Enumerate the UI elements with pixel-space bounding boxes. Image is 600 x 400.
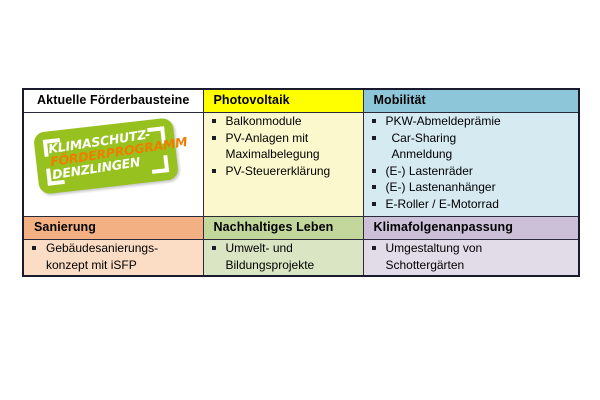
table-header-row-1: Aktuelle Förderbausteine Photovoltaik Mo… — [23, 89, 579, 113]
category-title-nachhaltiges-leben: Nachhaltiges Leben — [204, 217, 363, 238]
list-item-label: Gebäudesanierungs- konzept mit iSFP — [46, 240, 203, 273]
bullet-square-icon — [212, 246, 216, 250]
cell-sanierung-header: Sanierung — [23, 217, 203, 240]
list-item: Balkonmodule — [204, 113, 363, 130]
bullet-square-icon — [372, 169, 376, 173]
category-title-photovoltaik: Photovoltaik — [204, 90, 363, 111]
list-item-label: Umwelt- und Bildungsprojekte — [226, 240, 363, 273]
page-title: Aktuelle Förderbausteine — [24, 90, 203, 111]
cell-photovoltaik-body: Balkonmodule PV-Anlagen mit Maximalbeleg… — [203, 113, 363, 217]
list-sanierung: Gebäudesanierungs- konzept mit iSFP — [24, 240, 203, 273]
bullet-square-icon — [372, 119, 376, 123]
list-item-label: (E-) Lastenanhänger — [386, 179, 579, 196]
list-photovoltaik: Balkonmodule PV-Anlagen mit Maximalbeleg… — [204, 113, 363, 179]
list-item: Gebäudesanierungs- konzept mit iSFP — [24, 240, 203, 273]
cell-nachhaltiges-leben-body: Umwelt- und Bildungsprojekte — [203, 240, 363, 276]
table-body-row-1: KLIMASCHUTZ- FÖRDERPROGRAMM DENZLINGEN B… — [23, 113, 579, 217]
bullet-square-icon — [212, 119, 216, 123]
list-item: Car-Sharing Anmeldung — [364, 130, 579, 163]
category-title-sanierung: Sanierung — [24, 217, 203, 238]
list-nachhaltiges-leben: Umwelt- und Bildungsprojekte — [204, 240, 363, 273]
cell-klimafolgenanpassung-header: Klimafolgenanpassung — [363, 217, 579, 240]
bullet-square-icon — [372, 202, 376, 206]
list-item: PV-Steuererklärung — [204, 163, 363, 180]
foerderbausteine-table-container: Aktuelle Förderbausteine Photovoltaik Mo… — [22, 88, 578, 277]
list-item: PKW-Abmeldeprämie — [364, 113, 579, 130]
bullet-square-icon — [372, 185, 376, 189]
cell-logo: KLIMASCHUTZ- FÖRDERPROGRAMM DENZLINGEN — [23, 113, 203, 217]
list-item: Umwelt- und Bildungsprojekte — [204, 240, 363, 273]
cell-nachhaltiges-leben-header: Nachhaltiges Leben — [203, 217, 363, 240]
list-item-label: PV-Anlagen mit Maximalbelegung — [226, 130, 363, 163]
cell-mobilitaet-body: PKW-Abmeldeprämie Car-Sharing Anmeldung … — [363, 113, 579, 217]
list-item: E-Roller / E-Motorrad — [364, 196, 579, 213]
list-mobilitaet: PKW-Abmeldeprämie Car-Sharing Anmeldung … — [364, 113, 579, 212]
list-item: (E-) Lastenräder — [364, 163, 579, 180]
list-item-label: PKW-Abmeldeprämie — [386, 113, 579, 130]
cell-photovoltaik-header: Photovoltaik — [203, 89, 363, 113]
list-item: (E-) Lastenanhänger — [364, 179, 579, 196]
category-title-klimafolgenanpassung: Klimafolgenanpassung — [364, 217, 579, 238]
foerderbausteine-matrix: Aktuelle Förderbausteine Photovoltaik Mo… — [22, 88, 580, 277]
bullet-square-icon — [32, 246, 36, 250]
list-item-label: PV-Steuererklärung — [226, 163, 363, 180]
bullet-square-icon — [212, 169, 216, 173]
list-item: Umgestaltung von Schottergärten — [364, 240, 579, 273]
bullet-square-icon — [372, 136, 376, 140]
cell-klimafolgenanpassung-body: Umgestaltung von Schottergärten — [363, 240, 579, 276]
bullet-square-icon — [372, 246, 376, 250]
table-header-row-2: Sanierung Nachhaltiges Leben Klimafolgen… — [23, 217, 579, 240]
list-klimafolgenanpassung: Umgestaltung von Schottergärten — [364, 240, 579, 273]
list-item-label: Balkonmodule — [226, 113, 363, 130]
cell-mobilitaet-header: Mobilität — [363, 89, 579, 113]
list-item-label: (E-) Lastenräder — [386, 163, 579, 180]
list-item: PV-Anlagen mit Maximalbelegung — [204, 130, 363, 163]
table-body-row-2: Gebäudesanierungs- konzept mit iSFP Umwe… — [23, 240, 579, 276]
list-item-label: E-Roller / E-Motorrad — [386, 196, 579, 213]
klimaschutz-foerderprogramm-logo: KLIMASCHUTZ- FÖRDERPROGRAMM DENZLINGEN — [33, 117, 179, 194]
bullet-square-icon — [212, 136, 216, 140]
list-item-label: Umgestaltung von Schottergärten — [386, 240, 579, 273]
category-title-mobilitaet: Mobilität — [364, 90, 579, 111]
list-item-label: Car-Sharing Anmeldung — [386, 130, 579, 163]
cell-title-header: Aktuelle Förderbausteine — [23, 89, 203, 113]
cell-sanierung-body: Gebäudesanierungs- konzept mit iSFP — [23, 240, 203, 276]
